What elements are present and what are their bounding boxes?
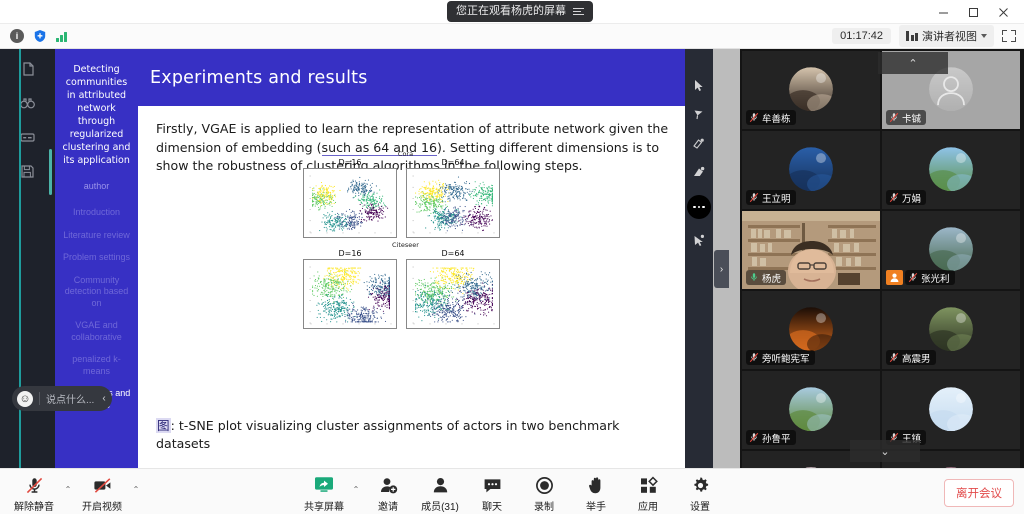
fullscreen-icon[interactable] — [1002, 29, 1016, 43]
mic-muted-icon — [749, 192, 759, 203]
window-controls — [928, 0, 1018, 24]
mic-muted-icon — [889, 192, 899, 203]
toc-item-penalized-kmeans[interactable]: penalized k-means — [61, 354, 132, 377]
cursor-icon[interactable] — [692, 79, 706, 93]
panel-title: D=16 — [303, 249, 397, 258]
chevron-down-icon — [981, 34, 987, 38]
participant-name-tag: 杨虎 — [746, 270, 786, 285]
participant-name: 杨虎 — [762, 271, 781, 285]
participant-name: 张光利 — [921, 271, 950, 285]
figure-suptitle-citeseer: Citeseer — [303, 241, 508, 249]
chat-icon — [482, 475, 503, 496]
binoculars-icon[interactable] — [19, 95, 36, 112]
toc-list: Introduction Literature review Problem s… — [61, 207, 132, 411]
settings-label: 设置 — [690, 498, 710, 513]
shared-screen-slide: Detecting communities in attributed netw… — [55, 49, 685, 468]
mic-muted-icon — [749, 352, 759, 363]
participant-tile[interactable]: 王立明 — [742, 131, 880, 209]
participant-name-tag: 万娟 — [886, 190, 926, 205]
status-left-icons: i — [0, 29, 67, 43]
apps-button[interactable]: 应用 — [622, 471, 674, 513]
chat-input[interactable]: 说点什么... — [46, 391, 94, 406]
toc-item-literature-review[interactable]: Literature review — [61, 230, 132, 242]
mic-muted-icon — [749, 112, 759, 123]
close-button[interactable] — [988, 0, 1018, 24]
participant-name: 牟善栋 — [762, 111, 791, 125]
camera-off-icon — [92, 475, 113, 496]
deck-title: Detecting communities in attributed netw… — [61, 63, 132, 167]
settings-gear-icon — [690, 475, 711, 496]
host-badge — [886, 270, 903, 285]
share-screen-button[interactable]: 共享屏幕 — [298, 471, 350, 513]
avatar — [789, 307, 833, 351]
chat-button[interactable]: 聊天 — [466, 471, 518, 513]
share-screen-label: 共享屏幕 — [304, 498, 344, 513]
participant-name-tag: 旁听鲍宪军 — [746, 350, 815, 365]
record-icon — [534, 475, 555, 496]
pen-icon[interactable] — [692, 108, 706, 122]
invite-icon — [378, 475, 399, 496]
participant-name-tag: 卡铖 — [886, 110, 926, 125]
participant-name-tag: 高震男 — [886, 350, 936, 365]
apps-label: 应用 — [638, 498, 658, 513]
unmute-label: 解除静音 — [14, 498, 54, 513]
annotation-toolbar — [685, 49, 713, 468]
bottom-center-controls: 共享屏幕 ⌃ 邀请 — [298, 471, 726, 513]
participant-tile[interactable]: 万娟 — [882, 131, 1020, 209]
screen-share-notice-text: 您正在观看杨虎的屏幕 — [456, 1, 566, 22]
toc-item-problem-settings[interactable]: Problem settings — [61, 252, 132, 264]
participant-name-tag: 王立明 — [746, 190, 796, 205]
record-label: 录制 — [534, 498, 554, 513]
members-button[interactable]: 成员(31) — [414, 471, 466, 513]
participant-name: 旁听鲍宪军 — [762, 351, 810, 365]
speaker-view-icon — [906, 31, 918, 41]
status-bar: i 01:17:42 演讲者视图 — [0, 24, 1024, 49]
caption-text: : t-SNE plot visualizing cluster assignm… — [156, 418, 619, 452]
chevron-left-icon[interactable]: ‹ — [100, 393, 105, 404]
scatter-axes — [303, 259, 397, 329]
scatter-axes — [406, 168, 500, 238]
share-screen-icon — [313, 475, 335, 496]
meeting-window: 您正在观看杨虎的屏幕 i 01:17:42 — [0, 0, 1024, 514]
mic-muted-icon — [24, 475, 45, 496]
participant-name: 卡铖 — [902, 111, 921, 125]
panel-title: D=64 — [406, 158, 500, 167]
participant-tile[interactable]: 旁听鲍宪军 — [742, 291, 880, 369]
emoji-icon[interactable]: ☺ — [17, 391, 33, 407]
participant-tile[interactable]: 张光利 — [882, 211, 1020, 289]
participants-scroll-up[interactable]: ⌃ — [878, 52, 948, 74]
raise-hand-button[interactable]: 举手 — [570, 471, 622, 513]
eraser-icon[interactable] — [692, 166, 706, 180]
settings-button[interactable]: 设置 — [674, 471, 726, 513]
more-icon[interactable] — [687, 195, 711, 219]
avatar — [789, 387, 833, 431]
audio-options-caret[interactable]: ⌃ — [62, 471, 74, 494]
figure-suptitle-cora: Cora — [303, 150, 508, 158]
mic-muted-icon — [749, 432, 759, 443]
participant-tile[interactable]: 王镇 — [882, 371, 1020, 449]
participant-panel-toggle[interactable]: › — [714, 250, 729, 288]
tsne-panel-cora-d16: D=16 — [303, 158, 397, 238]
raise-hand-icon — [586, 475, 607, 496]
apps-icon — [638, 475, 659, 496]
mic-icon — [749, 272, 759, 283]
participant-tile[interactable]: 高震男 — [882, 291, 1020, 369]
subtitle-icon[interactable] — [19, 129, 36, 146]
stamp-icon[interactable] — [692, 234, 706, 248]
participant-name-tag: 孙鲁平 — [746, 430, 796, 445]
participants-scroll-down[interactable]: ⌄ — [850, 440, 920, 462]
bottom-toolbar: 解除静音 ⌃ 开启视频 ⌃ — [0, 468, 1024, 514]
panel-title: D=16 — [303, 158, 397, 167]
video-options-caret[interactable]: ⌃ — [130, 471, 142, 494]
deck-author: author — [61, 181, 132, 191]
scroll-indicator[interactable] — [49, 149, 52, 195]
unmute-button[interactable]: 解除静音 — [8, 471, 60, 513]
shield-icon[interactable] — [33, 29, 47, 43]
chat-input-overlay[interactable]: ☺ 说点什么... ‹ — [12, 386, 112, 411]
toc-item-vgae-collaborative[interactable]: VGAE and collaborative — [61, 320, 132, 343]
members-icon — [430, 475, 451, 496]
panel-title: D=64 — [406, 249, 500, 258]
participant-tile[interactable]: 杨虎 — [742, 211, 880, 289]
invite-button[interactable]: 邀请 — [362, 471, 414, 513]
avatar — [929, 387, 973, 431]
participant-name: 高震男 — [902, 351, 931, 365]
title-bar: 您正在观看杨虎的屏幕 — [0, 0, 1024, 24]
slide-header: Experiments and results — [138, 49, 685, 106]
figure-caption: 图: t-SNE plot visualizing cluster assign… — [156, 417, 661, 454]
tsne-figure: Cora D=16 D=64 Citeseer D=16 — [303, 150, 508, 355]
participant-name: 孙鲁平 — [762, 431, 791, 445]
save-icon[interactable] — [19, 163, 36, 180]
invite-label: 邀请 — [378, 498, 398, 513]
maximize-button[interactable] — [958, 0, 988, 24]
tsne-panel-citeseer-d16: D=16 — [303, 249, 397, 329]
avatar — [789, 67, 833, 111]
slide-body: Firstly, VGAE is applied to learn the re… — [138, 106, 685, 468]
mic-muted-icon — [908, 272, 918, 283]
toc-item-community-detection[interactable]: Community detection based on — [61, 275, 132, 310]
divider — [39, 392, 40, 405]
avatar — [929, 147, 973, 191]
members-label: 成员(31) — [421, 498, 459, 513]
avatar — [929, 307, 973, 351]
view-mode-label: 演讲者视图 — [922, 28, 977, 44]
participant-name-tag: 张光利 — [905, 270, 955, 285]
hamburger-icon[interactable] — [573, 8, 584, 15]
start-video-button[interactable]: 开启视频 — [76, 471, 128, 513]
bottom-left-controls: 解除静音 ⌃ 开启视频 ⌃ — [8, 471, 142, 513]
caption-label: 图 — [156, 418, 171, 433]
signal-bars-icon[interactable] — [56, 31, 67, 42]
participant-name: 王立明 — [762, 191, 791, 205]
status-right-controls: 01:17:42 演讲者视图 — [832, 25, 1024, 47]
raise-hand-label: 举手 — [586, 498, 606, 513]
participant-name: 万娟 — [902, 191, 921, 205]
participant-panel: 牟善栋卡铖王立明万娟杨虎张光利旁听鲍宪军高震男孙鲁平王镇 — [740, 49, 1024, 468]
mic-muted-icon — [889, 112, 899, 123]
scatter-axes — [303, 168, 397, 238]
start-video-label: 开启视频 — [82, 498, 122, 513]
participant-tile[interactable]: 孙鲁平 — [742, 371, 880, 449]
slide-title: Experiments and results — [150, 68, 368, 88]
record-button[interactable]: 录制 — [518, 471, 570, 513]
info-icon[interactable]: i — [10, 29, 24, 43]
leave-meeting-button[interactable]: 离开会议 — [944, 479, 1014, 507]
chat-label: 聊天 — [482, 498, 502, 513]
mic-muted-icon — [889, 352, 899, 363]
highlighter-icon[interactable] — [692, 137, 706, 151]
toc-item-introduction[interactable]: Introduction — [61, 207, 132, 219]
copy-icon[interactable] — [19, 61, 36, 78]
share-options-caret[interactable]: ⌃ — [350, 471, 362, 494]
participant-name-tag: 牟善栋 — [746, 110, 796, 125]
tsne-panel-citeseer-d64: D=64 — [406, 249, 500, 329]
view-mode-selector[interactable]: 演讲者视图 — [899, 25, 994, 47]
scatter-axes — [406, 259, 500, 329]
meeting-timer: 01:17:42 — [832, 28, 891, 44]
minimize-button[interactable] — [928, 0, 958, 24]
avatar — [929, 227, 973, 271]
screen-share-notice[interactable]: 您正在观看杨虎的屏幕 — [447, 1, 593, 22]
avatar — [789, 147, 833, 191]
tsne-panel-cora-d64: D=64 — [406, 158, 500, 238]
participant-tile[interactable]: 牟善栋 — [742, 51, 880, 129]
